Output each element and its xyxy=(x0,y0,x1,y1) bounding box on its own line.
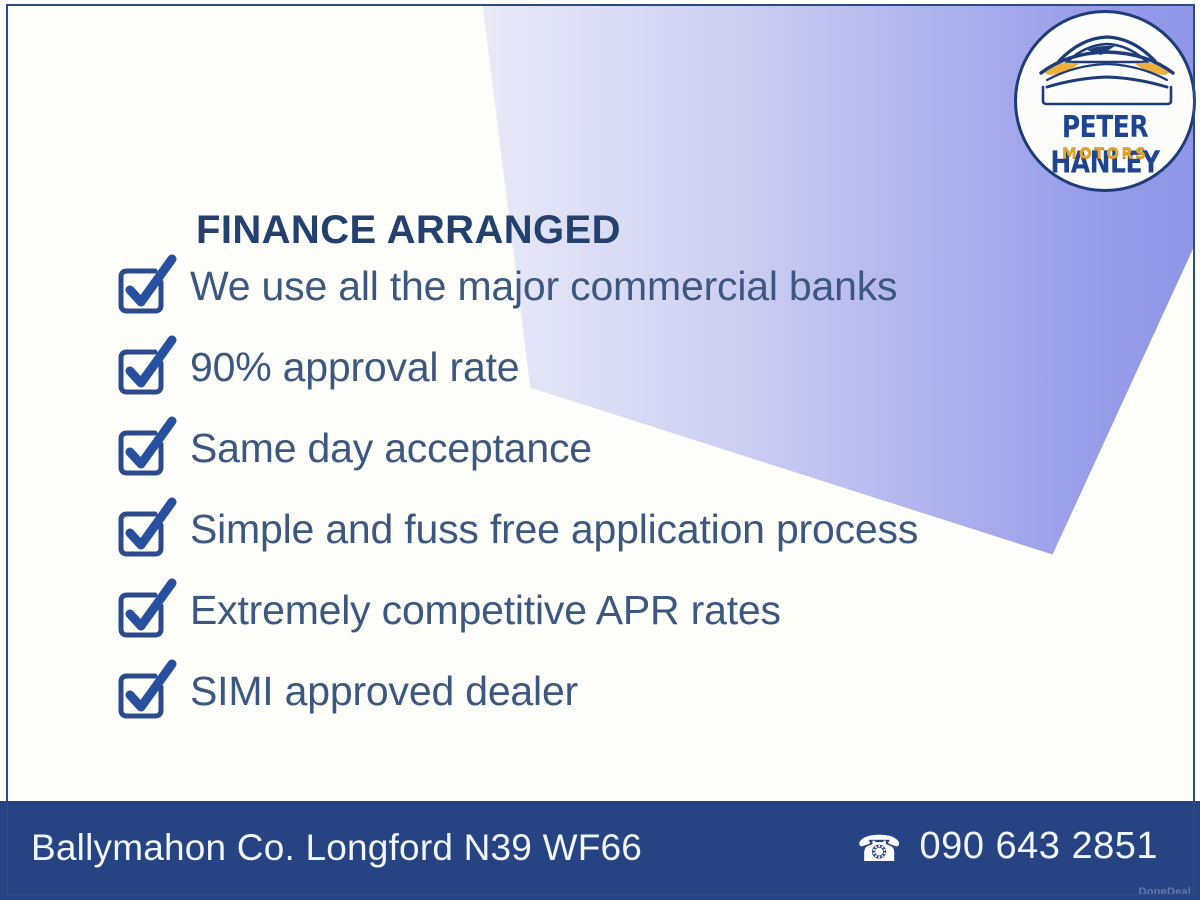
benefit-label: Simple and fuss free application process xyxy=(190,509,918,550)
advertisement-banner: FINANCE ARRANGED We use all the major co… xyxy=(0,0,1200,900)
checkbox-checked-icon xyxy=(114,256,176,318)
benefit-label: We use all the major commercial banks xyxy=(190,266,897,307)
watermark: DoneDeal xyxy=(1139,886,1191,898)
footer-bar: Ballymahon Co. Longford N39 WF66 ☎ 090 6… xyxy=(0,801,1200,900)
benefit-item: We use all the major commercial banks xyxy=(114,246,1164,327)
benefit-label: 90% approval rate xyxy=(190,347,519,388)
footer-phone-group: ☎ 090 643 2851 xyxy=(857,825,1158,868)
benefit-label: Extremely competitive APR rates xyxy=(190,590,781,631)
benefit-label: Same day acceptance xyxy=(190,428,592,469)
benefit-item: Simple and fuss free application process xyxy=(114,489,1164,570)
benefit-label: SIMI approved dealer xyxy=(190,671,578,712)
benefit-item: SIMI approved dealer xyxy=(114,651,1164,732)
checkbox-checked-icon xyxy=(114,580,176,642)
benefit-item: Same day acceptance xyxy=(114,408,1164,489)
benefit-item: Extremely competitive APR rates xyxy=(114,570,1164,651)
telephone-icon: ☎ xyxy=(857,831,902,867)
checkbox-checked-icon xyxy=(114,337,176,399)
checkbox-checked-icon xyxy=(114,661,176,723)
benefit-item: 90% approval rate xyxy=(114,327,1164,408)
checkbox-checked-icon xyxy=(114,499,176,561)
footer-address: Ballymahon Co. Longford N39 WF66 xyxy=(31,827,642,869)
benefits-list: We use all the major commercial banks90%… xyxy=(114,246,1164,732)
company-logo: PETER HANLEY MOTORS xyxy=(1014,10,1196,192)
checkbox-checked-icon xyxy=(114,418,176,480)
footer-phone-number: 090 643 2851 xyxy=(920,825,1158,868)
logo-company-subtitle: MOTORS xyxy=(1017,144,1193,162)
car-front-icon xyxy=(1029,31,1185,107)
